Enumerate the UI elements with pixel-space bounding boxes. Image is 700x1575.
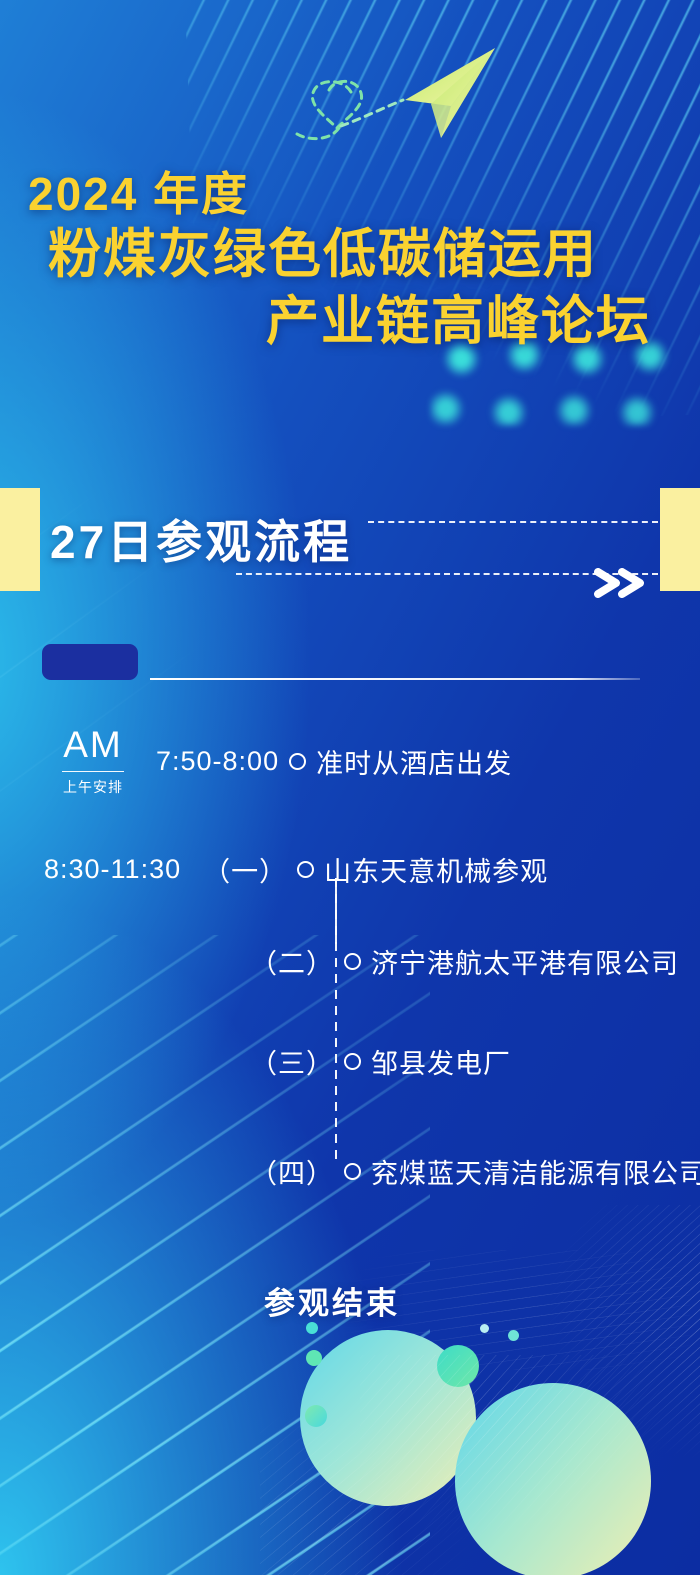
schedule-label: 山东天意机械参观 [324,850,548,889]
accent-dot [305,1405,327,1427]
paper-plane-icon [255,30,535,160]
title-line-2: 粉煤灰绿色低碳储运用 [0,221,700,289]
period-marker: AM 上午安排 [47,726,139,797]
plane-body-icon [405,48,495,138]
accent-dot [306,1350,322,1366]
period-code: AM [47,726,139,763]
diagonal-sheen-decor [0,380,400,900]
schedule-label: 准时从酒店出发 [316,742,512,781]
schedule-time: 8:30-11:30 [44,854,181,885]
band-accent-left [0,488,40,591]
band-accent-right [660,488,700,591]
schedule-ordinal: （二） [250,942,334,981]
band-dashed-line-top [368,521,658,523]
section-heading: 27日参观流程 [50,506,352,572]
accent-dot [508,1330,519,1341]
badge-divider-line [150,678,640,680]
timeline-dot-icon [297,861,314,878]
timeline-dot-icon [289,753,306,770]
schedule-row: （二） 济宁港航太平港有限公司 [250,942,679,981]
double-chevron-icon [594,568,648,598]
schedule-time: 7:50-8:00 [156,746,279,777]
schedule-ordinal: （四） [250,1152,334,1191]
title-line-3: 产业链高峰论坛 [0,289,700,355]
accent-dot [306,1322,318,1334]
section-badge-pill [42,644,138,680]
timeline-dot-icon [344,953,361,970]
section-header-band: 27日参观流程 [0,488,700,591]
period-divider [62,771,124,772]
period-label: 上午安排 [47,777,139,797]
schedule-row: 7:50-8:00 准时从酒店出发 [156,742,512,781]
schedule-label: 济宁港航太平港有限公司 [371,942,679,981]
schedule-ordinal: （三） [250,1042,334,1081]
heart-trail-icon [297,81,403,138]
schedule-ordinal: （一） [203,850,287,889]
poster-title: 2024 年度 粉煤灰绿色低碳储运用 产业链高峰论坛 [0,168,700,355]
schedule-row: （四） 兖煤蓝天清洁能源有限公司 [250,1152,700,1191]
poster-canvas: 2024 年度 粉煤灰绿色低碳储运用 产业链高峰论坛 27日参观流程 AM 上午… [0,0,700,1575]
timeline-dot-icon [344,1163,361,1180]
accent-dot [480,1324,489,1333]
schedule-row: 8:30-11:30 （一） 山东天意机械参观 [44,850,548,889]
title-line-1: 2024 年度 [0,168,700,221]
schedule-label: 邹县发电厂 [371,1042,511,1081]
schedule-label: 兖煤蓝天清洁能源有限公司 [371,1152,700,1191]
timeline-connector-dashed [335,878,337,1166]
timeline-dot-icon [344,1053,361,1070]
schedule-row: （三） 邹县发电厂 [250,1042,511,1081]
line-sweep-bottom-left-decor [260,1405,560,1575]
